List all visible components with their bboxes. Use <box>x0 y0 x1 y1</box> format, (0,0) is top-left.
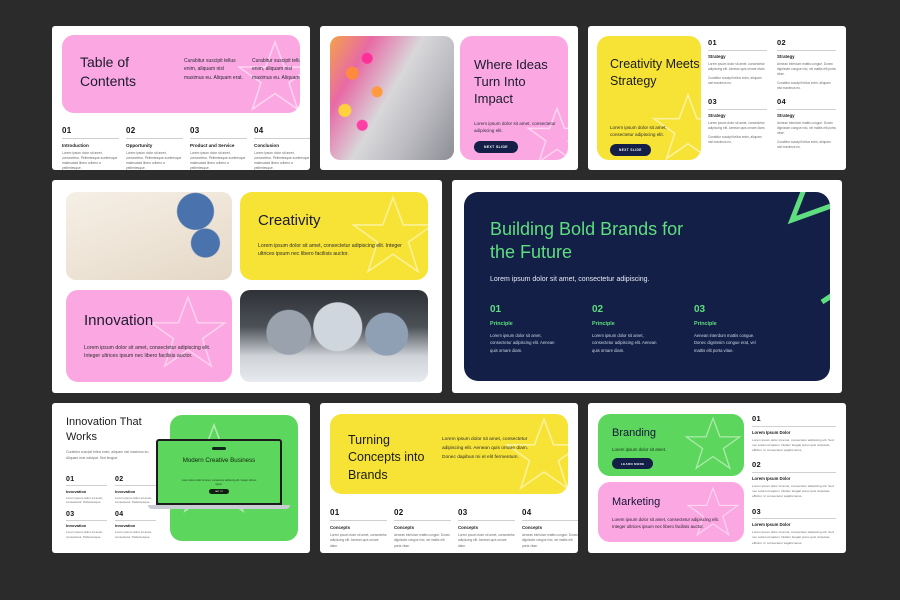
item-body: Aenean interdum mattis congue. Donec dig… <box>694 332 766 354</box>
list-item[interactable]: 01 Strategy Lorem ipsum dolor sit amet, … <box>708 38 767 91</box>
strategy-hero-panel: Creativity Meets Strategy Lorem ipsum do… <box>597 36 701 160</box>
divider <box>752 518 836 519</box>
item-body: Aenean interdum mattis congue. Donec dig… <box>394 533 451 549</box>
lead-text: Curabitur suscipit tellus enim, aliquam … <box>66 450 150 461</box>
item-number: 02 <box>777 38 836 47</box>
slide-turning-concepts-into-brands[interactable]: Turning Concepts into Brands Lorem ipsum… <box>320 403 578 553</box>
page-title: Branding <box>612 427 656 439</box>
slide-branding-marketing[interactable]: Branding Lorem ipsum dolor sit amet. LEA… <box>588 403 846 553</box>
item-body: Aenean interdum mattis congue. Donec dig… <box>522 533 578 549</box>
item-label: Principle <box>592 321 664 327</box>
sticky-notes-brainstorm-photo <box>330 36 454 160</box>
body-text: Lorem ipsum dolor sit amet, consectetur … <box>474 120 556 134</box>
slide-table-of-contents[interactable]: Table of Contents Curabitur suscipit tel… <box>52 26 310 170</box>
item-number: 04 <box>777 97 836 106</box>
list-item[interactable]: 03 Strategy Lorem ipsum dolor sit amet, … <box>708 97 767 150</box>
list-item[interactable]: 02 Concepts Aenean interdum mattis congu… <box>394 508 451 549</box>
page-title: Marketing <box>612 496 660 508</box>
laptop-screen: Modern Creative Business Lorem ipsum dol… <box>158 441 280 503</box>
item-label: Innovation <box>115 523 156 528</box>
star-outline-icon <box>350 194 436 280</box>
item-number: 04 <box>522 508 578 517</box>
impact-panel: Where Ideas Turn Into Impact Lorem ipsum… <box>460 36 568 160</box>
item-label: Concepts <box>458 525 515 530</box>
item-body-secondary: Curabitur suscipit tellus enim, aliquam … <box>708 76 767 86</box>
toc-hero-col-2: Curabitur suscipit tellus enim, aliquam … <box>252 57 300 82</box>
page-title: Innovation That Works <box>66 415 158 445</box>
principles-list: 01 Principle Lorem ipsum dolor sit amet,… <box>490 304 766 354</box>
mockup-cta-button[interactable]: GET TO <box>209 489 229 494</box>
innovation-grid: 01 Innovation Lorem ipsum dolor sit amet… <box>66 476 156 540</box>
item-label: Concepts <box>522 525 578 530</box>
item-label: Lorem Ipsum Dolor <box>752 522 836 527</box>
divider <box>330 520 387 521</box>
item-number: 02 <box>394 508 451 517</box>
next-slide-button[interactable]: NEXT SLIDE <box>474 141 518 153</box>
page-title: Creativity <box>258 212 321 229</box>
item-number: 01 <box>330 508 387 517</box>
list-item[interactable]: 04 Conclusion Lorem ipsum dolor sit amet… <box>254 126 310 170</box>
page-title: Turning Concepts into Brands <box>348 432 426 484</box>
slide-creativity-meets-strategy[interactable]: Creativity Meets Strategy Lorem ipsum do… <box>588 26 846 170</box>
slide-row-3: Innovation That Works Curabitur suscipit… <box>52 403 848 553</box>
item-body: Lorem ipsum dolor sit amet, consectetur.… <box>66 496 107 505</box>
slide-gallery-board: Table of Contents Curabitur suscipit tel… <box>0 0 900 600</box>
body-text: Lorem ipsum dolor sit amet, consectetur … <box>258 242 410 258</box>
slide-row-1: Table of Contents Curabitur suscipit tel… <box>52 26 848 170</box>
creativity-panel: Creativity Lorem ipsum dolor sit amet, c… <box>240 192 428 280</box>
list-item[interactable]: 03 Principle Aenean interdum mattis cong… <box>694 304 766 354</box>
body-text: Lorem ipsum dolor sit amet, consectetur … <box>612 516 732 531</box>
item-body-secondary: Curabitur suscipit tellus enim, aliquam … <box>708 135 767 145</box>
list-item[interactable]: 04 Innovation Lorem ipsum dolor sit amet… <box>115 511 156 540</box>
page-title: Creativity Meets Strategy <box>610 56 701 90</box>
strategy-grid: 01 Strategy Lorem ipsum dolor sit amet, … <box>708 38 836 150</box>
slide-creativity-innovation[interactable]: Creativity Lorem ipsum dolor sit amet, c… <box>52 180 442 393</box>
item-label: Product and Service <box>190 143 247 148</box>
item-number: 02 <box>592 304 664 315</box>
item-label: Innovation <box>115 489 156 494</box>
item-body: Lorem ipsum dolor sit amet, consectetur … <box>330 533 387 549</box>
hands-sketching-wireframe-photo <box>66 192 232 280</box>
item-body: Lorem ipsum dolor sit amet, consectetur.… <box>62 151 119 170</box>
innovation-panel: Innovation Lorem ipsum dolor sit amet, c… <box>66 290 232 382</box>
item-body: Lorem ipsum dolor sit amet, consectetur.… <box>190 151 247 170</box>
divider <box>458 520 515 521</box>
team-workshop-table-photo <box>240 290 428 382</box>
item-body: Aenean interdum mattis congue. Donec dig… <box>777 62 836 77</box>
list-item[interactable]: 03 Concepts Lorem ipsum dolor sit amet, … <box>458 508 515 549</box>
item-label: Principle <box>490 321 562 327</box>
divider <box>66 520 107 521</box>
item-body: Lorem ipsum dolor sit amet, consectetur … <box>752 438 836 454</box>
divider <box>66 485 107 486</box>
list-item[interactable]: 04 Strategy Aenean interdum mattis congu… <box>777 97 836 150</box>
divider <box>254 138 310 139</box>
item-label: Lorem Ipsum Dolor <box>752 476 836 481</box>
list-item[interactable]: 01 Concepts Lorem ipsum dolor sit amet, … <box>330 508 387 549</box>
item-body: Lorem ipsum dolor sit amet, consectetur … <box>752 530 836 546</box>
divider <box>708 50 767 51</box>
star-outline-icon <box>684 416 742 474</box>
divider <box>126 138 183 139</box>
list-item[interactable]: 03 Product and Service Lorem ipsum dolor… <box>190 126 247 170</box>
item-body: Lorem ipsum dolor sit amet, consectetur.… <box>115 496 156 505</box>
mockup-body: Lorem ipsum dolor sit amet, consectetur … <box>180 479 258 487</box>
item-body: Lorem ipsum dolor sit amet, consectetur.… <box>66 530 107 539</box>
item-number: 01 <box>62 126 119 135</box>
list-item[interactable]: 02 Principle Lorem ipsum dolor sit amet,… <box>592 304 664 354</box>
divider <box>394 520 451 521</box>
item-body: Lorem ipsum dolor sit amet, consectetur.… <box>254 151 310 170</box>
item-label: Strategy <box>777 54 836 59</box>
laptop-screen-bezel: Modern Creative Business Lorem ipsum dol… <box>156 439 282 505</box>
divider <box>115 485 156 486</box>
item-body: Lorem ipsum dolor sit amet, consectetur … <box>708 121 767 131</box>
divider <box>190 138 247 139</box>
item-body-secondary: Curabitur suscipit tellus enim, aliquam … <box>777 81 836 91</box>
page-title: Table of Contents <box>80 53 175 91</box>
item-body: Lorem ipsum dolor sit amet, consectetur … <box>490 332 562 354</box>
divider <box>777 50 836 51</box>
item-label: Principle <box>694 321 766 327</box>
toc-hero-col-1: Curabitur suscipit tellus enim, aliquam … <box>184 57 244 82</box>
item-number: 03 <box>190 126 247 135</box>
slide-where-ideas-turn-into-impact[interactable]: Where Ideas Turn Into Impact Lorem ipsum… <box>320 26 578 170</box>
concepts-grid: 01 Concepts Lorem ipsum dolor sit amet, … <box>330 508 578 549</box>
item-label: Strategy <box>777 113 836 118</box>
list-item[interactable]: 01 Innovation Lorem ipsum dolor sit amet… <box>66 476 107 505</box>
slide-innovation-that-works[interactable]: Innovation That Works Curabitur suscipit… <box>52 403 310 553</box>
page-title: Where Ideas Turn Into Impact <box>474 56 568 107</box>
item-number: 01 <box>490 304 562 315</box>
body-text: Lorem ipsum dolor sit amet, consectetur … <box>610 124 690 138</box>
list-item[interactable]: 01 Lorem Ipsum Dolor Lorem ipsum dolor s… <box>752 414 836 453</box>
divider <box>777 109 836 110</box>
item-number: 04 <box>115 511 156 518</box>
toc-hero-panel: Table of Contents Curabitur suscipit tel… <box>62 35 300 113</box>
star-outline-icon <box>148 294 228 374</box>
item-label: Innovation <box>66 489 107 494</box>
learn-more-button[interactable]: LEARN MORE <box>612 458 653 469</box>
item-number: 01 <box>66 476 107 483</box>
mockup-logo-icon <box>212 447 226 450</box>
divider <box>708 109 767 110</box>
item-number: 04 <box>254 126 310 135</box>
item-number: 03 <box>752 507 836 516</box>
body-text: Lorem ipsum dolor sit amet, consectetur … <box>84 344 218 360</box>
item-label: Strategy <box>708 113 767 118</box>
mockup-title: Modern Creative Business <box>158 457 280 466</box>
list-item[interactable]: 02 Strategy Aenean interdum mattis congu… <box>777 38 836 91</box>
divider <box>62 138 119 139</box>
item-number: 02 <box>126 126 183 135</box>
item-label: Concepts <box>330 525 387 530</box>
divider <box>752 426 836 427</box>
body-text: Lorem ipsum dolor sit amet, consectetur … <box>442 436 530 463</box>
list-item[interactable]: 04 Concepts Aenean interdum mattis congu… <box>522 508 578 549</box>
list-item[interactable]: 02 Lorem Ipsum Dolor Lorem ipsum dolor s… <box>752 460 836 499</box>
divider <box>115 520 156 521</box>
item-label: Conclusion <box>254 143 310 148</box>
item-body: Lorem ipsum dolor sit amet, consectetur … <box>592 332 664 354</box>
item-label: Lorem Ipsum Dolor <box>752 430 836 435</box>
list-item[interactable]: 03 Lorem Ipsum Dolor Lorem ipsum dolor s… <box>752 507 836 546</box>
marketing-panel: Marketing Lorem ipsum dolor sit amet, co… <box>598 482 744 542</box>
list-item[interactable]: 01 Introduction Lorem ipsum dolor sit am… <box>62 126 119 170</box>
list-item[interactable]: 02 Opportunity Lorem ipsum dolor sit ame… <box>126 126 183 170</box>
item-number: 01 <box>708 38 767 47</box>
page-title: Innovation <box>84 312 153 329</box>
toc-list: 01 Introduction Lorem ipsum dolor sit am… <box>62 126 310 170</box>
laptop-mockup: Modern Creative Business Lorem ipsum dol… <box>156 439 282 509</box>
item-label: Opportunity <box>126 143 183 148</box>
laptop-base <box>148 505 290 509</box>
item-body: Lorem ipsum dolor sit amet, consectetur.… <box>115 530 156 539</box>
divider <box>522 520 578 521</box>
divider <box>752 472 836 473</box>
item-number: 03 <box>708 97 767 106</box>
branding-list: 01 Lorem Ipsum Dolor Lorem ipsum dolor s… <box>752 414 836 553</box>
item-number: 02 <box>752 460 836 469</box>
item-body: Lorem ipsum dolor sit amet, consectetur … <box>708 62 767 72</box>
item-label: Strategy <box>708 54 767 59</box>
item-label: Introduction <box>62 143 119 148</box>
item-body: Lorem ipsum dolor sit amet, consectetur … <box>458 533 515 549</box>
item-number: 01 <box>752 414 836 423</box>
item-body: Aenean interdum mattis congue. Donec dig… <box>777 121 836 136</box>
item-label: Innovation <box>66 523 107 528</box>
lead-text: Lorem ipsum dolor sit amet, consectetur … <box>490 276 650 283</box>
body-text: Lorem ipsum dolor sit amet. <box>612 447 666 454</box>
concepts-hero-panel: Turning Concepts into Brands Lorem ipsum… <box>330 414 568 494</box>
item-label: Concepts <box>394 525 451 530</box>
item-number: 03 <box>694 304 766 315</box>
page-title: Building Bold Brands for the Future <box>490 218 690 265</box>
item-number: 03 <box>458 508 515 517</box>
item-body-secondary: Curabitur suscipit tellus enim, aliquam … <box>777 140 836 150</box>
list-item[interactable]: 01 Principle Lorem ipsum dolor sit amet,… <box>490 304 562 354</box>
slide-building-bold-brands[interactable]: Building Bold Brands for the Future Lore… <box>452 180 842 393</box>
list-item[interactable]: 02 Innovation Lorem ipsum dolor sit amet… <box>115 476 156 505</box>
next-slide-button[interactable]: NEXT SLIDE <box>610 144 651 156</box>
star-outline-icon <box>686 486 740 540</box>
slide-row-2: Creativity Lorem ipsum dolor sit amet, c… <box>52 180 848 393</box>
item-number: 02 <box>115 476 156 483</box>
dark-hero-panel: Building Bold Brands for the Future Lore… <box>464 192 830 381</box>
branding-panel: Branding Lorem ipsum dolor sit amet. LEA… <box>598 414 744 476</box>
list-item[interactable]: 03 Innovation Lorem ipsum dolor sit amet… <box>66 511 107 540</box>
item-body: Lorem ipsum dolor sit amet, consectetur … <box>752 484 836 500</box>
item-body: Lorem ipsum dolor sit amet, consectetur.… <box>126 151 183 170</box>
item-number: 03 <box>66 511 107 518</box>
